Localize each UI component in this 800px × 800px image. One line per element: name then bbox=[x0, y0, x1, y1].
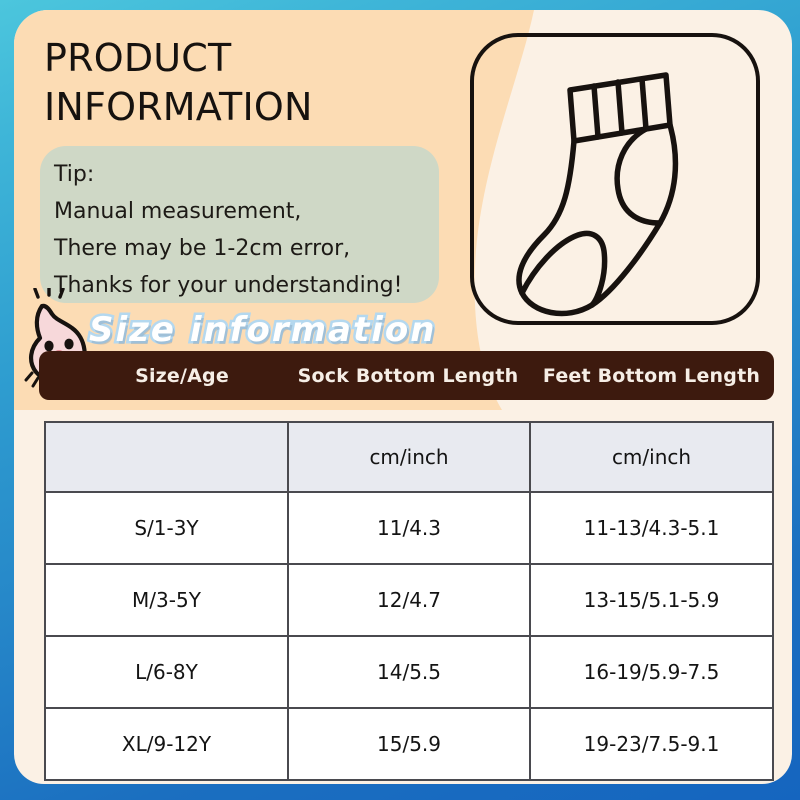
table-row: S/1-3Y 11/4.3 11-13/4.3-5.1 bbox=[45, 492, 773, 564]
sock-icon bbox=[474, 37, 756, 321]
cell-sock-length: 15/5.9 bbox=[288, 708, 530, 780]
cell-size-age: M/3-5Y bbox=[45, 564, 288, 636]
cell-sock-length: 14/5.5 bbox=[288, 636, 530, 708]
column-header-sock-bottom-length: Sock Bottom Length bbox=[287, 365, 529, 387]
cell-feet-length: 11-13/4.3-5.1 bbox=[530, 492, 773, 564]
tip-line-3: There may be 1-2cm error, bbox=[54, 230, 425, 267]
product-information-card: PRODUCT INFORMATION Tip: Manual measurem… bbox=[14, 10, 792, 784]
tip-line-1: Tip: bbox=[54, 156, 425, 193]
tip-line-2: Manual measurement, bbox=[54, 193, 425, 230]
tip-box: Tip: Manual measurement, There may be 1-… bbox=[40, 146, 439, 303]
cell-size-age: S/1-3Y bbox=[45, 492, 288, 564]
cell-unit-sock: cm/inch bbox=[288, 422, 530, 492]
sock-illustration-box bbox=[470, 33, 760, 325]
table-header-bar: Size/Age Sock Bottom Length Feet Bottom … bbox=[39, 351, 774, 400]
page-title: PRODUCT INFORMATION bbox=[44, 34, 464, 132]
cell-size-age: L/6-8Y bbox=[45, 636, 288, 708]
size-information-title: Size information bbox=[89, 310, 436, 350]
table-row-units: cm/inch cm/inch bbox=[45, 422, 773, 492]
cell-feet-length: 13-15/5.1-5.9 bbox=[530, 564, 773, 636]
cell-size-age: XL/9-12Y bbox=[45, 708, 288, 780]
cell-sock-length: 11/4.3 bbox=[288, 492, 530, 564]
cell-feet-length: 16-19/5.9-7.5 bbox=[530, 636, 773, 708]
cell-unit-size-age bbox=[45, 422, 288, 492]
cell-sock-length: 12/4.7 bbox=[288, 564, 530, 636]
table-row: L/6-8Y 14/5.5 16-19/5.9-7.5 bbox=[45, 636, 773, 708]
page-frame: PRODUCT INFORMATION Tip: Manual measurem… bbox=[0, 0, 800, 800]
cell-unit-feet: cm/inch bbox=[530, 422, 773, 492]
cell-feet-length: 19-23/7.5-9.1 bbox=[530, 708, 773, 780]
table-row: XL/9-12Y 15/5.9 19-23/7.5-9.1 bbox=[45, 708, 773, 780]
column-header-size-age: Size/Age bbox=[39, 365, 287, 387]
column-header-feet-bottom-length: Feet Bottom Length bbox=[529, 365, 774, 387]
tip-line-4: Thanks for your understanding! bbox=[54, 267, 425, 304]
table-row: M/3-5Y 12/4.7 13-15/5.1-5.9 bbox=[45, 564, 773, 636]
size-chart-table: cm/inch cm/inch S/1-3Y 11/4.3 11-13/4.3-… bbox=[44, 421, 774, 781]
